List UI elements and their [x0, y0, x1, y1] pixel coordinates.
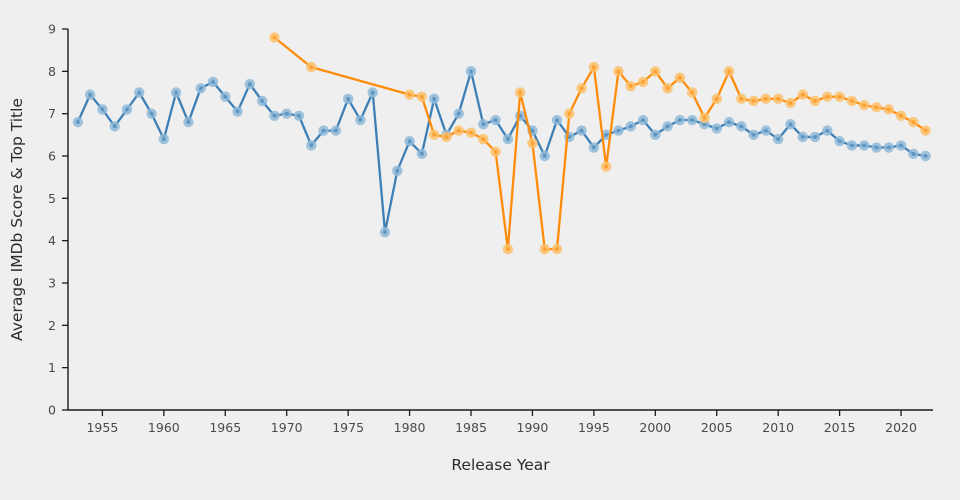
- data-point: [801, 135, 805, 139]
- line-chart-plot: 0123456789 19551960196519701975198019851…: [0, 0, 960, 500]
- data-point: [469, 69, 473, 73]
- data-point: [420, 152, 424, 156]
- data-point: [567, 112, 571, 116]
- data-point: [137, 91, 141, 95]
- data-point: [481, 137, 485, 141]
- data-point: [592, 65, 596, 69]
- data-point: [530, 129, 534, 133]
- chart-container: 0123456789 19551960196519701975198019851…: [0, 0, 960, 500]
- data-point: [76, 120, 80, 124]
- data-point: [383, 230, 387, 234]
- y-tick-label: 9: [48, 22, 56, 37]
- data-point: [776, 97, 780, 101]
- data-point: [739, 124, 743, 128]
- data-point: [272, 114, 276, 118]
- data-point: [874, 105, 878, 109]
- data-point: [825, 129, 829, 133]
- data-point: [727, 120, 731, 124]
- data-point: [653, 69, 657, 73]
- data-point: [408, 139, 412, 143]
- data-point: [223, 95, 227, 99]
- data-point: [788, 101, 792, 105]
- x-tick-label: 1965: [209, 420, 241, 435]
- data-point: [813, 135, 817, 139]
- data-point: [604, 133, 608, 137]
- data-point: [911, 120, 915, 124]
- data-point: [580, 86, 584, 90]
- x-tick-label: 1990: [517, 420, 549, 435]
- data-point: [457, 112, 461, 116]
- data-point: [543, 154, 547, 158]
- data-point: [494, 118, 498, 122]
- data-point: [862, 143, 866, 147]
- data-point: [899, 143, 903, 147]
- data-point: [666, 124, 670, 128]
- data-point: [666, 86, 670, 90]
- data-point: [924, 129, 928, 133]
- series-group: [73, 32, 931, 254]
- data-point: [899, 114, 903, 118]
- x-tick-label: 1955: [86, 420, 118, 435]
- data-point: [715, 97, 719, 101]
- data-point: [862, 103, 866, 107]
- data-point: [408, 93, 412, 97]
- data-point: [592, 146, 596, 150]
- data-point: [186, 120, 190, 124]
- x-tick-label: 2015: [824, 420, 856, 435]
- data-point: [543, 247, 547, 251]
- data-point: [346, 97, 350, 101]
- y-tick-label: 6: [48, 149, 56, 164]
- data-point: [125, 107, 129, 111]
- data-point: [297, 114, 301, 118]
- data-point: [481, 122, 485, 126]
- data-point: [911, 152, 915, 156]
- x-tick-label: 2005: [701, 420, 733, 435]
- data-point: [801, 93, 805, 97]
- data-point: [850, 143, 854, 147]
- y-tick-label: 1: [48, 360, 56, 375]
- y-tick-label: 7: [48, 106, 56, 121]
- data-point: [444, 135, 448, 139]
- data-point: [764, 97, 768, 101]
- data-point: [150, 112, 154, 116]
- data-point: [616, 129, 620, 133]
- data-point: [629, 84, 633, 88]
- data-point: [506, 247, 510, 251]
- series-2: [269, 32, 931, 254]
- data-point: [580, 129, 584, 133]
- data-point: [309, 65, 313, 69]
- data-point: [199, 86, 203, 90]
- data-point: [530, 141, 534, 145]
- data-point: [715, 126, 719, 130]
- data-point: [432, 97, 436, 101]
- y-tick-label: 0: [48, 403, 56, 418]
- data-point: [752, 133, 756, 137]
- data-point: [727, 69, 731, 73]
- data-point: [272, 35, 276, 39]
- data-point: [641, 118, 645, 122]
- data-point: [850, 99, 854, 103]
- x-tick-label: 1980: [394, 420, 426, 435]
- x-tick-label: 2000: [639, 420, 671, 435]
- data-point: [874, 146, 878, 150]
- data-point: [924, 154, 928, 158]
- data-point: [653, 133, 657, 137]
- y-tick-label: 2: [48, 318, 56, 333]
- data-point: [739, 97, 743, 101]
- data-point: [690, 91, 694, 95]
- data-point: [838, 139, 842, 143]
- data-point: [616, 69, 620, 73]
- data-point: [887, 146, 891, 150]
- data-point: [371, 91, 375, 95]
- data-point: [358, 118, 362, 122]
- data-point: [100, 107, 104, 111]
- data-point: [494, 150, 498, 154]
- data-point: [604, 165, 608, 169]
- data-point: [629, 124, 633, 128]
- x-tick-label: 1960: [148, 420, 180, 435]
- y-tick-label: 8: [48, 64, 56, 79]
- data-point: [518, 91, 522, 95]
- data-point: [334, 129, 338, 133]
- data-point: [420, 95, 424, 99]
- x-tick-label: 1975: [332, 420, 364, 435]
- data-point: [457, 129, 461, 133]
- data-point: [432, 133, 436, 137]
- data-point: [776, 137, 780, 141]
- data-point: [555, 118, 559, 122]
- data-point: [764, 129, 768, 133]
- series-line: [274, 37, 925, 249]
- data-point: [211, 80, 215, 84]
- data-point: [88, 93, 92, 97]
- data-point: [174, 91, 178, 95]
- data-point: [641, 80, 645, 84]
- data-point: [555, 247, 559, 251]
- data-point: [678, 118, 682, 122]
- x-tick-label: 2020: [885, 420, 917, 435]
- data-point: [788, 122, 792, 126]
- x-axis-ticks: 1955196019651970197519801985199019952000…: [86, 410, 917, 435]
- data-point: [678, 76, 682, 80]
- x-tick-label: 1970: [271, 420, 303, 435]
- x-tick-label: 2010: [762, 420, 794, 435]
- data-point: [838, 95, 842, 99]
- y-tick-label: 3: [48, 276, 56, 291]
- data-point: [395, 169, 399, 173]
- y-axis-title: Average IMDb Score & Top Title: [8, 98, 26, 341]
- data-point: [702, 116, 706, 120]
- y-tick-label: 4: [48, 233, 56, 248]
- x-tick-label: 1985: [455, 420, 487, 435]
- x-axis-title: Release Year: [451, 456, 550, 474]
- data-point: [690, 118, 694, 122]
- data-point: [825, 95, 829, 99]
- y-tick-label: 5: [48, 191, 56, 206]
- data-point: [469, 131, 473, 135]
- data-point: [113, 124, 117, 128]
- data-point: [887, 107, 891, 111]
- data-point: [236, 110, 240, 114]
- data-point: [285, 112, 289, 116]
- data-point: [322, 129, 326, 133]
- data-point: [506, 137, 510, 141]
- data-point: [813, 99, 817, 103]
- data-point: [260, 99, 264, 103]
- data-point: [162, 137, 166, 141]
- data-point: [309, 143, 313, 147]
- data-point: [752, 99, 756, 103]
- y-axis-ticks: 0123456789: [48, 22, 68, 418]
- x-tick-label: 1995: [578, 420, 610, 435]
- data-point: [248, 82, 252, 86]
